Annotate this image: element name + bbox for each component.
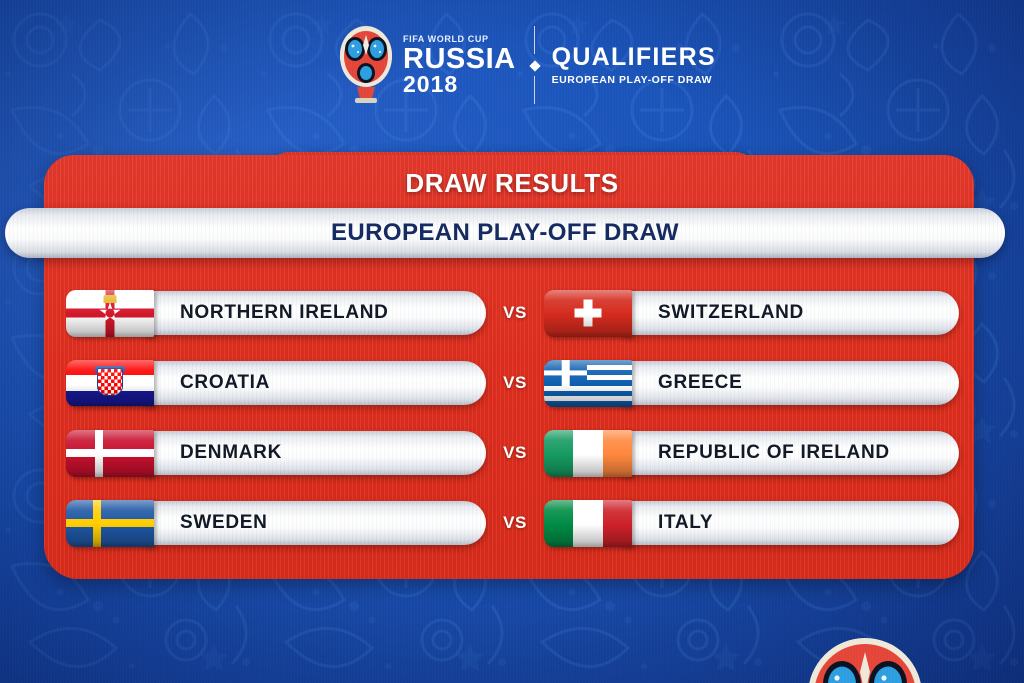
- match-list: NORTHERN IRELAND VS SWITZERLAND: [0, 278, 1024, 558]
- flag-switzerland: [544, 290, 632, 337]
- qualifiers-subtitle: EUROPEAN PLAY-OFF DRAW: [552, 75, 716, 86]
- flag-italy: [544, 500, 632, 547]
- home-team[interactable]: DENMARK: [66, 430, 486, 477]
- home-team-plate: NORTHERN IRELAND: [144, 291, 486, 335]
- home-team-name: CROATIA: [144, 372, 270, 394]
- home-team-name: SWEDEN: [144, 512, 268, 534]
- away-team-plate: REPUBLIC OF IRELAND: [622, 431, 959, 475]
- home-team[interactable]: CROATIA: [66, 360, 486, 407]
- year-label: 2018: [403, 73, 516, 96]
- flag-northern-ireland: [66, 290, 154, 337]
- versus-label: VS: [486, 373, 544, 393]
- away-team-plate: SWITZERLAND: [622, 291, 959, 335]
- home-team-plate: SWEDEN: [144, 501, 486, 545]
- home-team[interactable]: SWEDEN: [66, 500, 486, 547]
- versus-label: VS: [486, 443, 544, 463]
- host-country-label: RUSSIA: [403, 45, 516, 74]
- away-team-plate: GREECE: [622, 361, 959, 405]
- draw-results-label: DRAW RESULTS: [405, 168, 618, 199]
- away-team-name: ITALY: [622, 512, 713, 534]
- away-team-name: REPUBLIC OF IRELAND: [622, 442, 890, 464]
- qualifiers-title: QUALIFIERS: [552, 45, 716, 70]
- section-title-banner: EUROPEAN PLAY-OFF DRAW: [5, 208, 1005, 258]
- section-title-label: EUROPEAN PLAY-OFF DRAW: [331, 219, 679, 247]
- diamond-divider-icon: [534, 26, 536, 104]
- table-row: CROATIA VS GREECE: [0, 348, 1024, 418]
- world-cup-wordmark: FIFA WORLD CUP RUSSIA 2018: [403, 35, 516, 96]
- away-team-plate: ITALY: [622, 501, 959, 545]
- flag-croatia: [66, 360, 154, 407]
- home-team-plate: CROATIA: [144, 361, 486, 405]
- home-team-name: NORTHERN IRELAND: [144, 302, 389, 324]
- versus-label: VS: [486, 303, 544, 323]
- event-branding-bar: FIFA WORLD CUP RUSSIA 2018 QUALIFIERS EU…: [335, 24, 695, 106]
- away-team[interactable]: GREECE: [544, 360, 959, 407]
- world-cup-trophy-icon: [335, 25, 397, 105]
- away-team-name: SWITZERLAND: [622, 302, 804, 324]
- home-team[interactable]: NORTHERN IRELAND: [66, 290, 486, 337]
- world-cup-2018-ball-icon: [806, 636, 924, 683]
- away-team-name: GREECE: [622, 372, 742, 394]
- broadcast-graphic: FIFA WORLD CUP RUSSIA 2018 QUALIFIERS EU…: [0, 0, 1024, 683]
- qualifiers-lockup: QUALIFIERS EUROPEAN PLAY-OFF DRAW: [552, 45, 716, 86]
- table-row: DENMARK VS REPUBLIC OF IRELAND: [0, 418, 1024, 488]
- versus-label: VS: [486, 513, 544, 533]
- away-team[interactable]: ITALY: [544, 500, 959, 547]
- table-row: SWEDEN VS ITALY: [0, 488, 1024, 558]
- flag-republic-of-ireland: [544, 430, 632, 477]
- flag-denmark: [66, 430, 154, 477]
- away-team[interactable]: REPUBLIC OF IRELAND: [544, 430, 959, 477]
- away-team[interactable]: SWITZERLAND: [544, 290, 959, 337]
- home-team-plate: DENMARK: [144, 431, 486, 475]
- flag-greece: [544, 360, 632, 407]
- home-team-name: DENMARK: [144, 442, 282, 464]
- flag-sweden: [66, 500, 154, 547]
- table-row: NORTHERN IRELAND VS SWITZERLAND: [0, 278, 1024, 348]
